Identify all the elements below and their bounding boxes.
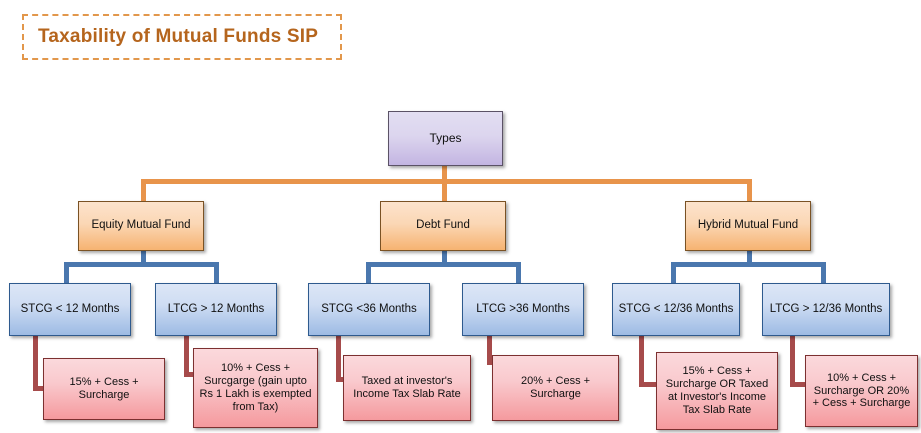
node-debt-ltcg[interactable]: LTCG >36 Months	[462, 283, 584, 336]
node-hybrid-stcg[interactable]: STCG < 12/36 Months	[612, 283, 740, 336]
node-tax-hybrid-ltcg[interactable]: 10% + Cess + Surcharge OR 20% + Cess + S…	[805, 355, 918, 427]
node-equity-stcg[interactable]: STCG < 12 Months	[9, 283, 131, 336]
node-types-label: Types	[425, 131, 465, 145]
title-banner: Taxability of Mutual Funds SIP	[22, 14, 342, 60]
connector-period6-drop	[790, 335, 795, 387]
connector-debt-to-ltcg	[516, 262, 521, 284]
node-tax-hybrid-stcg[interactable]: 15% + Cess + Surcharge OR Taxed at Inves…	[656, 352, 778, 430]
connector-hybrid-to-ltcg	[821, 262, 826, 284]
node-hybrid-ltcg-label: LTCG > 12/36 Months	[766, 303, 887, 317]
connector-period2-drop	[184, 335, 189, 377]
node-tax-hybrid-ltcg-label: 10% + Cess + Surcharge OR 20% + Cess + S…	[806, 372, 917, 411]
node-equity-ltcg[interactable]: LTCG > 12 Months	[155, 283, 277, 336]
connector-root-to-hybrid	[747, 179, 752, 202]
connector-equity-bus	[64, 262, 219, 267]
connector-hybrid-to-stcg	[671, 262, 676, 284]
node-types[interactable]: Types	[388, 111, 503, 166]
node-tax-hybrid-stcg-label: 15% + Cess + Surcharge OR Taxed at Inves…	[657, 365, 777, 417]
node-tax-debt-ltcg-label: 20% + Cess + Surcharge	[493, 375, 618, 401]
node-hybrid-mutual-fund[interactable]: Hybrid Mutual Fund	[685, 201, 811, 251]
connector-debt-to-stcg	[366, 262, 371, 284]
page-title: Taxability of Mutual Funds SIP	[24, 26, 318, 48]
node-equity-stcg-label: STCG < 12 Months	[17, 303, 124, 317]
node-tax-equity-stcg[interactable]: 15% + Cess + Surcharge	[43, 358, 165, 420]
connector-hybrid-bus	[671, 262, 826, 267]
connector-root-to-equity	[141, 179, 146, 202]
node-tax-equity-ltcg[interactable]: 10% + Cess + Surcgarge (gain upto Rs 1 L…	[193, 348, 318, 428]
connector-equity-to-stcg	[64, 262, 69, 284]
node-debt-fund-label: Debt Fund	[412, 219, 474, 233]
node-tax-equity-ltcg-label: 10% + Cess + Surcgarge (gain upto Rs 1 L…	[194, 362, 317, 414]
node-debt-stcg-label: STCG <36 Months	[317, 303, 421, 317]
node-equity-ltcg-label: LTCG > 12 Months	[164, 303, 269, 317]
node-equity-mutual-fund[interactable]: Equity Mutual Fund	[78, 201, 204, 251]
diagram-canvas: Taxability of Mutual Funds SIP Types Equ…	[0, 0, 921, 433]
connector-debt-bus	[366, 262, 521, 267]
node-debt-fund[interactable]: Debt Fund	[380, 201, 506, 251]
node-debt-stcg[interactable]: STCG <36 Months	[308, 283, 430, 336]
node-hybrid-ltcg[interactable]: LTCG > 12/36 Months	[762, 283, 890, 336]
node-tax-debt-stcg-label: Taxed at investor's Income Tax Slab Rate	[344, 375, 470, 401]
node-debt-ltcg-label: LTCG >36 Months	[472, 303, 573, 317]
connector-period3-drop	[336, 335, 341, 382]
connector-root-to-debt	[442, 179, 447, 202]
connector-equity-to-ltcg	[214, 262, 219, 284]
connector-period1-drop	[33, 335, 38, 391]
node-tax-debt-ltcg[interactable]: 20% + Cess + Surcharge	[492, 355, 619, 421]
node-tax-equity-stcg-label: 15% + Cess + Surcharge	[44, 376, 164, 402]
node-hybrid-stcg-label: STCG < 12/36 Months	[615, 303, 738, 317]
node-equity-mutual-fund-label: Equity Mutual Fund	[87, 219, 194, 233]
node-hybrid-mutual-fund-label: Hybrid Mutual Fund	[694, 219, 802, 233]
node-tax-debt-stcg[interactable]: Taxed at investor's Income Tax Slab Rate	[343, 355, 471, 421]
connector-period5-drop	[639, 335, 644, 387]
